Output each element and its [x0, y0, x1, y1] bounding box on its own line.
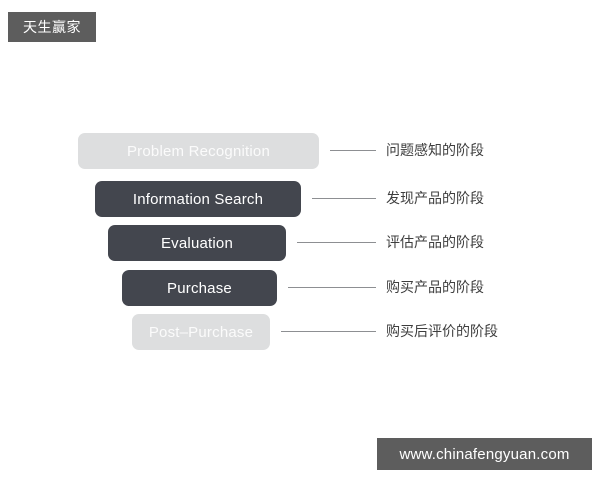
- funnel-row: Evaluation 评估产品的阶段: [0, 225, 600, 261]
- funnel-row: Purchase 购买产品的阶段: [0, 270, 600, 306]
- connector-line: [297, 242, 376, 243]
- funnel-stage-annotation: 购买后评价的阶段: [386, 324, 498, 338]
- funnel-stage-label: Post–Purchase: [149, 325, 253, 340]
- connector-line: [288, 287, 376, 288]
- watermark-banner: www.chinafengyuan.com: [377, 438, 592, 470]
- funnel-stage-label: Purchase: [167, 281, 232, 296]
- funnel-stage-annotation: 发现产品的阶段: [386, 191, 484, 205]
- funnel-stage-label: Problem Recognition: [127, 144, 270, 159]
- funnel-stage-annotation: 问题感知的阶段: [386, 143, 484, 157]
- funnel-stage-label: Evaluation: [161, 236, 233, 251]
- connector-line: [330, 150, 376, 151]
- funnel-row: Information Search 发现产品的阶段: [0, 181, 600, 217]
- funnel-stage-bar[interactable]: Post–Purchase: [132, 314, 270, 350]
- funnel-stage-bar[interactable]: Evaluation: [108, 225, 286, 261]
- connector-line: [281, 331, 376, 332]
- connector-line: [312, 198, 376, 199]
- watermark-label: www.chinafengyuan.com: [399, 447, 569, 462]
- funnel-stage-bar[interactable]: Information Search: [95, 181, 301, 217]
- funnel-stage-annotation: 评估产品的阶段: [386, 235, 484, 249]
- funnel-stage-label: Information Search: [133, 192, 263, 207]
- diagram-canvas: 天生赢家 Problem Recognition 问题感知的阶段 Informa…: [0, 0, 600, 480]
- funnel-diagram: Problem Recognition 问题感知的阶段 Information …: [0, 0, 600, 480]
- funnel-stage-bar[interactable]: Purchase: [122, 270, 277, 306]
- funnel-stage-bar[interactable]: Problem Recognition: [78, 133, 319, 169]
- funnel-row: Post–Purchase 购买后评价的阶段: [0, 314, 600, 350]
- funnel-row: Problem Recognition 问题感知的阶段: [0, 133, 600, 169]
- funnel-stage-annotation: 购买产品的阶段: [386, 280, 484, 294]
